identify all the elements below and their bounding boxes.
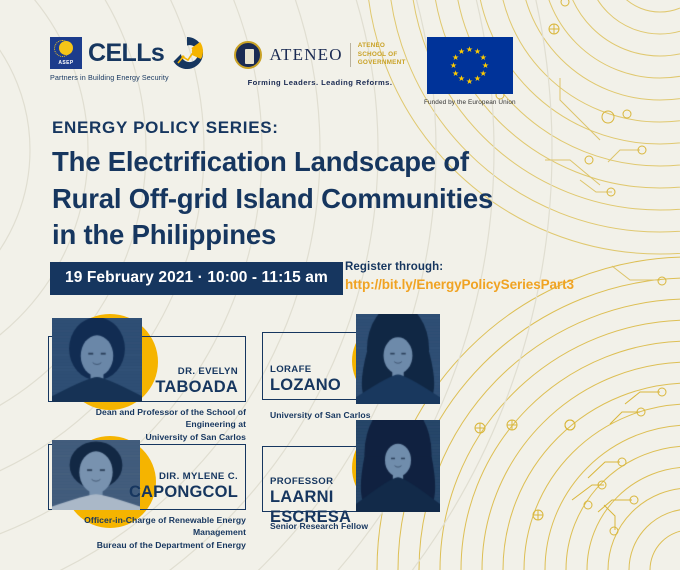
speaker-prefix: PROFESSOR bbox=[270, 476, 366, 487]
speaker-caption: Officer-in-Charge of Renewable Energy Ma… bbox=[40, 514, 246, 551]
ateneo-seal-icon bbox=[234, 41, 262, 69]
eu-star-icon: ★ bbox=[452, 70, 459, 78]
speaker-photo bbox=[356, 314, 440, 404]
eu-flag-icon: ★★★★★★★★★★★★ bbox=[427, 37, 513, 94]
eu-star-icon: ★ bbox=[474, 75, 481, 83]
speaker-name: LOZANO bbox=[270, 376, 366, 394]
title-line-2: Rural Off-grid Island Communities bbox=[52, 181, 572, 218]
speaker-name-block: DIR. MYLENE C. CAPONGCOL bbox=[128, 471, 238, 502]
speaker-photo bbox=[52, 440, 140, 510]
asep-badge-label: ASEP bbox=[58, 60, 73, 66]
logo-eu: ★★★★★★★★★★★★ Funded by the European Unio… bbox=[424, 36, 516, 106]
eu-star-icon: ★ bbox=[466, 78, 473, 86]
logo-ateneo: ATENEO ATENEO SCHOOL OF GOVERNMENT Formi… bbox=[240, 36, 400, 87]
ateneo-unit-line-1: ATENEO bbox=[358, 42, 406, 50]
eu-funding-caption: Funded by the European Union bbox=[424, 99, 516, 106]
asep-badge-icon: ASEP bbox=[50, 37, 82, 69]
speaker-name-block: PROFESSOR LAARNI ESCRESA bbox=[270, 476, 366, 526]
speaker-prefix: LORAFE bbox=[270, 364, 366, 375]
page-title: The Electrification Landscape of Rural O… bbox=[52, 144, 572, 254]
speaker-name-block: DR. EVELYN TABOADA bbox=[136, 366, 238, 397]
speaker-prefix: DR. EVELYN bbox=[136, 366, 238, 377]
cells-swoosh-icon bbox=[170, 36, 204, 70]
event-datetime-badge: 19 February 2021 · 10:00 - 11:15 am bbox=[50, 262, 343, 295]
eu-star-icon: ★ bbox=[466, 46, 473, 54]
eu-star-icon: ★ bbox=[450, 62, 457, 70]
speaker-photo bbox=[356, 420, 440, 512]
speaker-caption: Dean and Professor of the School of Engi… bbox=[44, 406, 246, 443]
cells-wordmark: CELLs bbox=[88, 41, 164, 66]
logo-cells: ASEP CELLs Partners in Building Energy S… bbox=[50, 36, 222, 82]
speaker-caption-line-1: Officer-in-Charge of Renewable Energy Ma… bbox=[40, 514, 246, 539]
eu-star-icon: ★ bbox=[458, 48, 465, 56]
register-link[interactable]: http://bit.ly/EnergyPolicySeriesPart3 bbox=[345, 277, 574, 292]
speaker-name: LAARNI bbox=[270, 488, 366, 506]
logo-bar: ASEP CELLs Partners in Building Energy S… bbox=[50, 36, 630, 98]
speaker-caption-line-1: Senior Research Fellow bbox=[270, 520, 460, 532]
speaker-caption-line-2: Bureau of the Department of Energy bbox=[40, 539, 246, 551]
registration-block: Register through: http://bit.ly/EnergyPo… bbox=[345, 261, 574, 292]
title-line-3: in the Philippines bbox=[52, 217, 572, 254]
ateneo-unit-name: ATENEO SCHOOL OF GOVERNMENT bbox=[358, 42, 406, 67]
speaker-name: TABOADA bbox=[136, 378, 238, 396]
speaker-caption: Senior Research Fellow bbox=[270, 520, 460, 532]
cells-tagline: Partners in Building Energy Security bbox=[50, 73, 222, 82]
ateneo-unit-line-2: SCHOOL OF bbox=[358, 51, 406, 59]
speaker-name-block: LORAFE LOZANO bbox=[270, 364, 366, 395]
ateneo-unit-line-3: GOVERNMENT bbox=[358, 59, 406, 67]
speaker-caption-line-1: Dean and Professor of the School of Engi… bbox=[44, 406, 246, 431]
series-kicker: ENERGY POLICY SERIES: bbox=[52, 118, 279, 138]
speaker-prefix: DIR. MYLENE C. bbox=[128, 471, 238, 482]
ateneo-wordmark: ATENEO bbox=[269, 45, 342, 65]
register-label: Register through: bbox=[345, 261, 574, 273]
title-line-1: The Electrification Landscape of bbox=[52, 144, 572, 181]
speaker-name: CAPONGCOL bbox=[128, 483, 238, 501]
speaker-photo bbox=[52, 318, 142, 402]
ateneo-slogan: Forming Leaders. Leading Reforms. bbox=[248, 78, 393, 87]
ateneo-divider bbox=[350, 43, 351, 67]
